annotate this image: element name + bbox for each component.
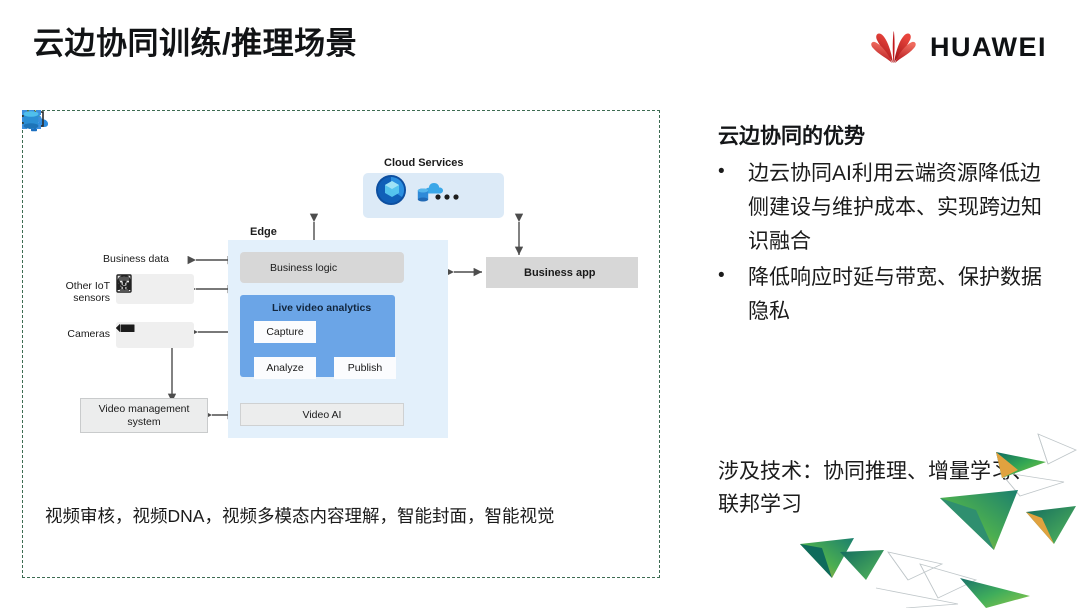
business-data-label: Business data (74, 253, 169, 265)
business-app-label: Business app (524, 267, 596, 279)
analyze-box: Analyze (254, 357, 316, 379)
advantage-text: 边云协同AI利用云端资源降低边侧建设与维护成本、实现跨边知识融合 (748, 157, 1048, 259)
capture-label: Capture (266, 326, 303, 338)
business-app-box: Business app (486, 257, 638, 288)
cloud-services-title: Cloud Services (384, 157, 463, 169)
advantages-section: 云边协同的优势 • 边云协同AI利用云端资源降低边侧建设与维护成本、实现跨边知识… (718, 120, 1048, 329)
edge-title: Edge (250, 226, 277, 238)
advantages-heading: 云边协同的优势 (718, 120, 1048, 150)
video-management-system-box: Video management system (80, 398, 208, 433)
list-item: • 边云协同AI利用云端资源降低边侧建设与维护成本、实现跨边知识融合 (718, 157, 1048, 259)
business-logic-label: Business logic (270, 262, 337, 274)
video-management-system-label: Video management system (81, 403, 207, 428)
architecture-diagram: Cloud Services (22, 110, 660, 500)
cloud-services-panel (363, 173, 504, 218)
slide-root: 云边协同训练/推理场景 HUAWEI (0, 0, 1080, 608)
camera-icons (116, 322, 194, 348)
advantage-text: 降低响应时延与带宽、保护数据隐私 (748, 261, 1048, 329)
iot-device-icon (116, 274, 132, 293)
diagram-caption: 视频审核，视频DNA，视频多模态内容理解，智能封面，智能视觉 (45, 504, 645, 529)
iot-sensor-icons (116, 274, 194, 304)
video-ai-box: Video AI (240, 403, 404, 426)
camera-icon (116, 322, 136, 334)
database-icon (22, 110, 40, 130)
bullet-marker: • (718, 261, 748, 329)
huawei-wordmark: HUAWEI (930, 32, 1047, 63)
bullet-marker: • (718, 157, 748, 259)
publish-box: Publish (334, 357, 396, 379)
tech-note: 涉及技术：协同推理、增量学习、联邦学习 (718, 455, 1048, 521)
huawei-flower-icon (869, 30, 919, 64)
huawei-logo: HUAWEI (869, 30, 1047, 64)
publish-label: Publish (348, 362, 382, 374)
cloud-services-icons (363, 173, 493, 207)
live-video-analytics-label: Live video analytics (272, 302, 371, 314)
page-title: 云边协同训练/推理场景 (33, 18, 357, 63)
video-ai-label: Video AI (303, 409, 342, 421)
cameras-label: Cameras (42, 328, 110, 340)
other-iot-sensors-label: Other IoT sensors (42, 280, 110, 305)
business-logic-box: Business logic (240, 252, 404, 283)
capture-box: Capture (254, 321, 316, 343)
analyze-label: Analyze (266, 362, 303, 374)
list-item: • 降低响应时延与带宽、保护数据隐私 (718, 261, 1048, 329)
